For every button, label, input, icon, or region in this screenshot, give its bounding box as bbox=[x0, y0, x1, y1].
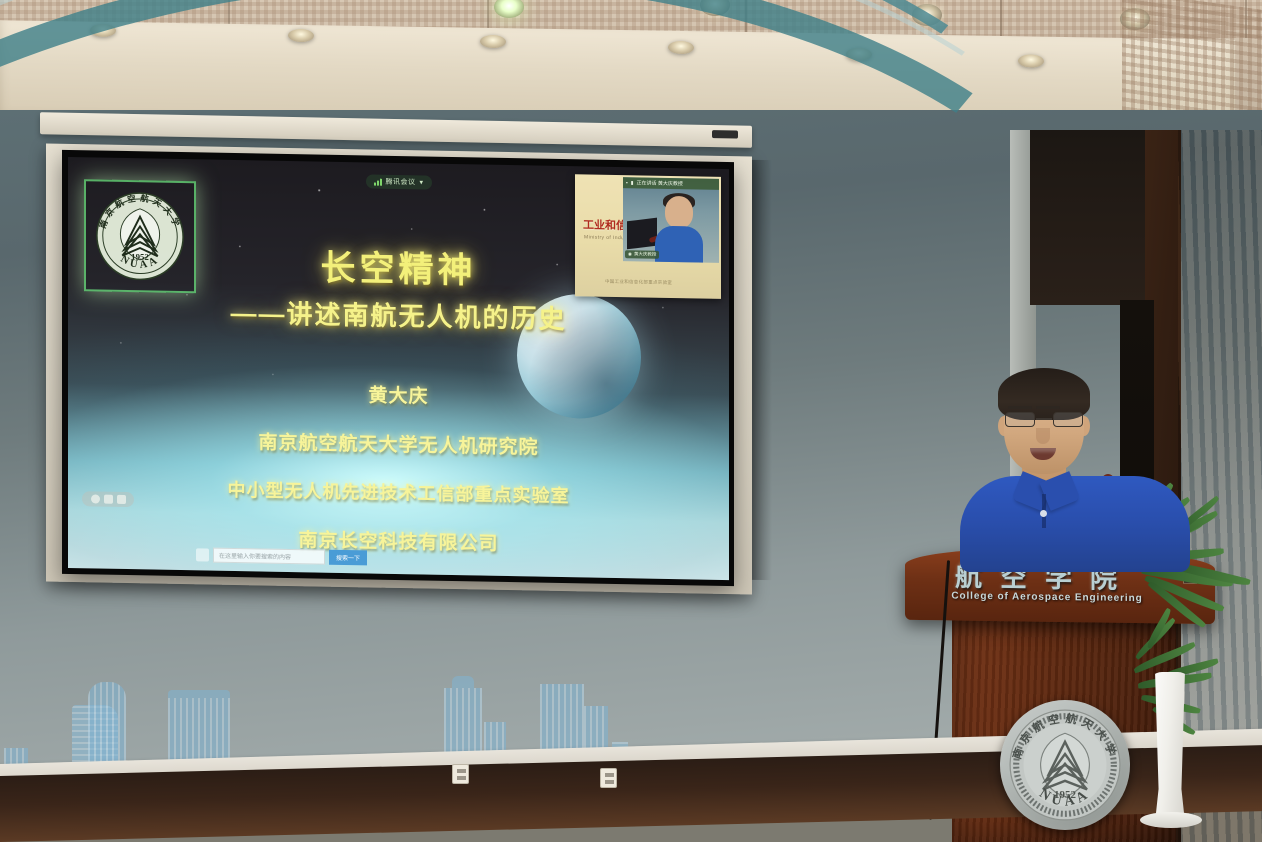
note-icon[interactable] bbox=[104, 495, 113, 504]
speaker-nose bbox=[1036, 428, 1050, 444]
search-button[interactable]: 搜索一下 bbox=[329, 550, 367, 566]
meeting-label: 腾讯会议 bbox=[385, 177, 415, 188]
signal-bars-icon bbox=[373, 178, 381, 185]
speaker-person bbox=[960, 368, 1190, 558]
floating-control-pill[interactable] bbox=[82, 491, 134, 507]
presentation-slide: 1952 NUAA 南京航空航天大学 腾讯会议 ▾ 工业和信 Ministr bbox=[68, 157, 729, 580]
meeting-status-pill[interactable]: 腾讯会议 ▾ bbox=[365, 174, 431, 189]
ceiling-seam bbox=[1000, 0, 1002, 38]
webcam-header: ▪ ▮ 正在讲话 黄大庆教授 bbox=[623, 177, 719, 190]
plant-lower-fronds bbox=[1128, 610, 1248, 740]
search-icon[interactable] bbox=[196, 548, 209, 561]
projector-screen: 1952 NUAA 南京航空航天大学 腾讯会议 ▾ 工业和信 Ministr bbox=[62, 150, 734, 586]
chevron-down-icon: ▾ bbox=[419, 178, 423, 186]
floor-vase-base bbox=[1140, 812, 1202, 828]
slide-body-line: 中小型无人机先进技术工信部重点实验室 bbox=[68, 473, 729, 511]
webcam-header-label: 正在讲话 黄大庆教授 bbox=[637, 179, 683, 187]
more-icon[interactable] bbox=[117, 495, 126, 504]
speaker-shirt-button bbox=[1040, 510, 1047, 517]
book-cover-title: 工业和信 bbox=[583, 216, 627, 233]
glasses-icon bbox=[1004, 412, 1084, 428]
power-outlet[interactable] bbox=[452, 764, 469, 784]
speaker-eyebrow-right bbox=[1036, 406, 1060, 409]
slide-body-line: 南京航空航天大学无人机研究院 bbox=[68, 424, 729, 463]
screen-roller-knob[interactable] bbox=[712, 130, 738, 138]
webcam-person-head bbox=[665, 196, 693, 229]
record-icon[interactable] bbox=[91, 494, 100, 503]
power-outlet[interactable] bbox=[600, 768, 617, 788]
podium-nuaa-emblem: 1952 NUAA 南京航空航天大学 bbox=[1000, 700, 1130, 830]
lecture-hall-photo: 1952 NUAA 南京航空航天大学 腾讯会议 ▾ 工业和信 Ministr bbox=[0, 0, 1262, 842]
slide-body: 黄大庆 南京航空航天大学无人机研究院 中小型无人机先进技术工信部重点实验室 南京… bbox=[68, 375, 729, 580]
slide-body-line: 南京长空科技有限公司 bbox=[68, 521, 729, 560]
speaker-eyebrow-left bbox=[1008, 406, 1032, 409]
desktop-search-widget[interactable]: 在这里输入你要搜索的内容 搜索一下 bbox=[196, 547, 367, 565]
screen-side-shadow bbox=[752, 160, 772, 580]
video-icon: ▪ bbox=[626, 180, 628, 186]
mic-icon: ▮ bbox=[631, 180, 634, 186]
search-input[interactable]: 在这里输入你要搜索的内容 bbox=[213, 548, 325, 565]
